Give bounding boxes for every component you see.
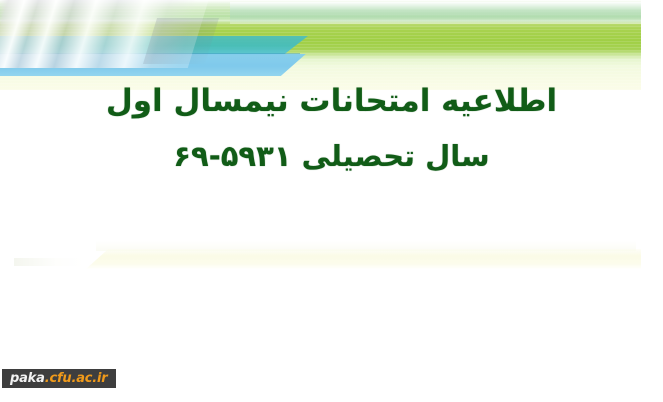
watermark-site-domain: .cfu.ac.ir: [45, 371, 108, 386]
mint-highlight-band: [230, 2, 641, 24]
title-block: اطلاعیه امتحانات نیمسال اول سال تحصیلی ۱…: [0, 78, 663, 178]
watermark-site-name: paka: [10, 371, 45, 386]
announcement-slide: اطلاعیه امتحانات نیمسال اول سال تحصیلی ۱…: [0, 0, 663, 402]
announcement-title-line-2: سال تحصیلی ۱۳۹۵-۹۶: [0, 134, 663, 178]
cream-band-speck: [14, 258, 84, 266]
announcement-title-line-1: اطلاعیه امتحانات نیمسال اول: [0, 78, 663, 124]
site-watermark: paka.cfu.ac.ir: [2, 369, 116, 388]
cream-band: [86, 249, 641, 269]
